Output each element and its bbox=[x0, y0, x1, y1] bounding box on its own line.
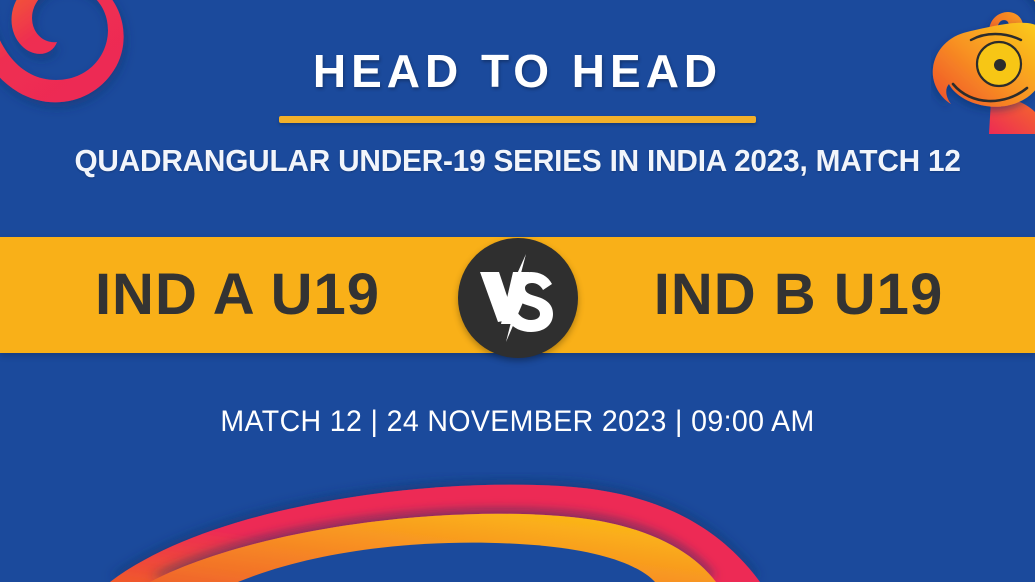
poster-header: HEAD TO HEAD QUADRANGULAR UNDER-19 SERIE… bbox=[0, 0, 1035, 237]
page-title: HEAD TO HEAD bbox=[313, 48, 722, 94]
arc-swoosh-decoration-icon bbox=[0, 472, 1035, 582]
versus-icon bbox=[468, 248, 568, 348]
match-info-text: MATCH 12 | 24 NOVEMBER 2023 | 09:00 AM bbox=[26, 407, 1009, 437]
away-team-name: IND B U19 bbox=[579, 266, 1009, 324]
home-team-name: IND A U19 bbox=[27, 266, 457, 324]
title-divider bbox=[279, 116, 756, 123]
series-subtitle: QUADRANGULAR UNDER-19 SERIES IN INDIA 20… bbox=[74, 145, 960, 176]
versus-badge bbox=[458, 238, 578, 358]
head-to-head-poster: HEAD TO HEAD QUADRANGULAR UNDER-19 SERIE… bbox=[0, 0, 1035, 582]
